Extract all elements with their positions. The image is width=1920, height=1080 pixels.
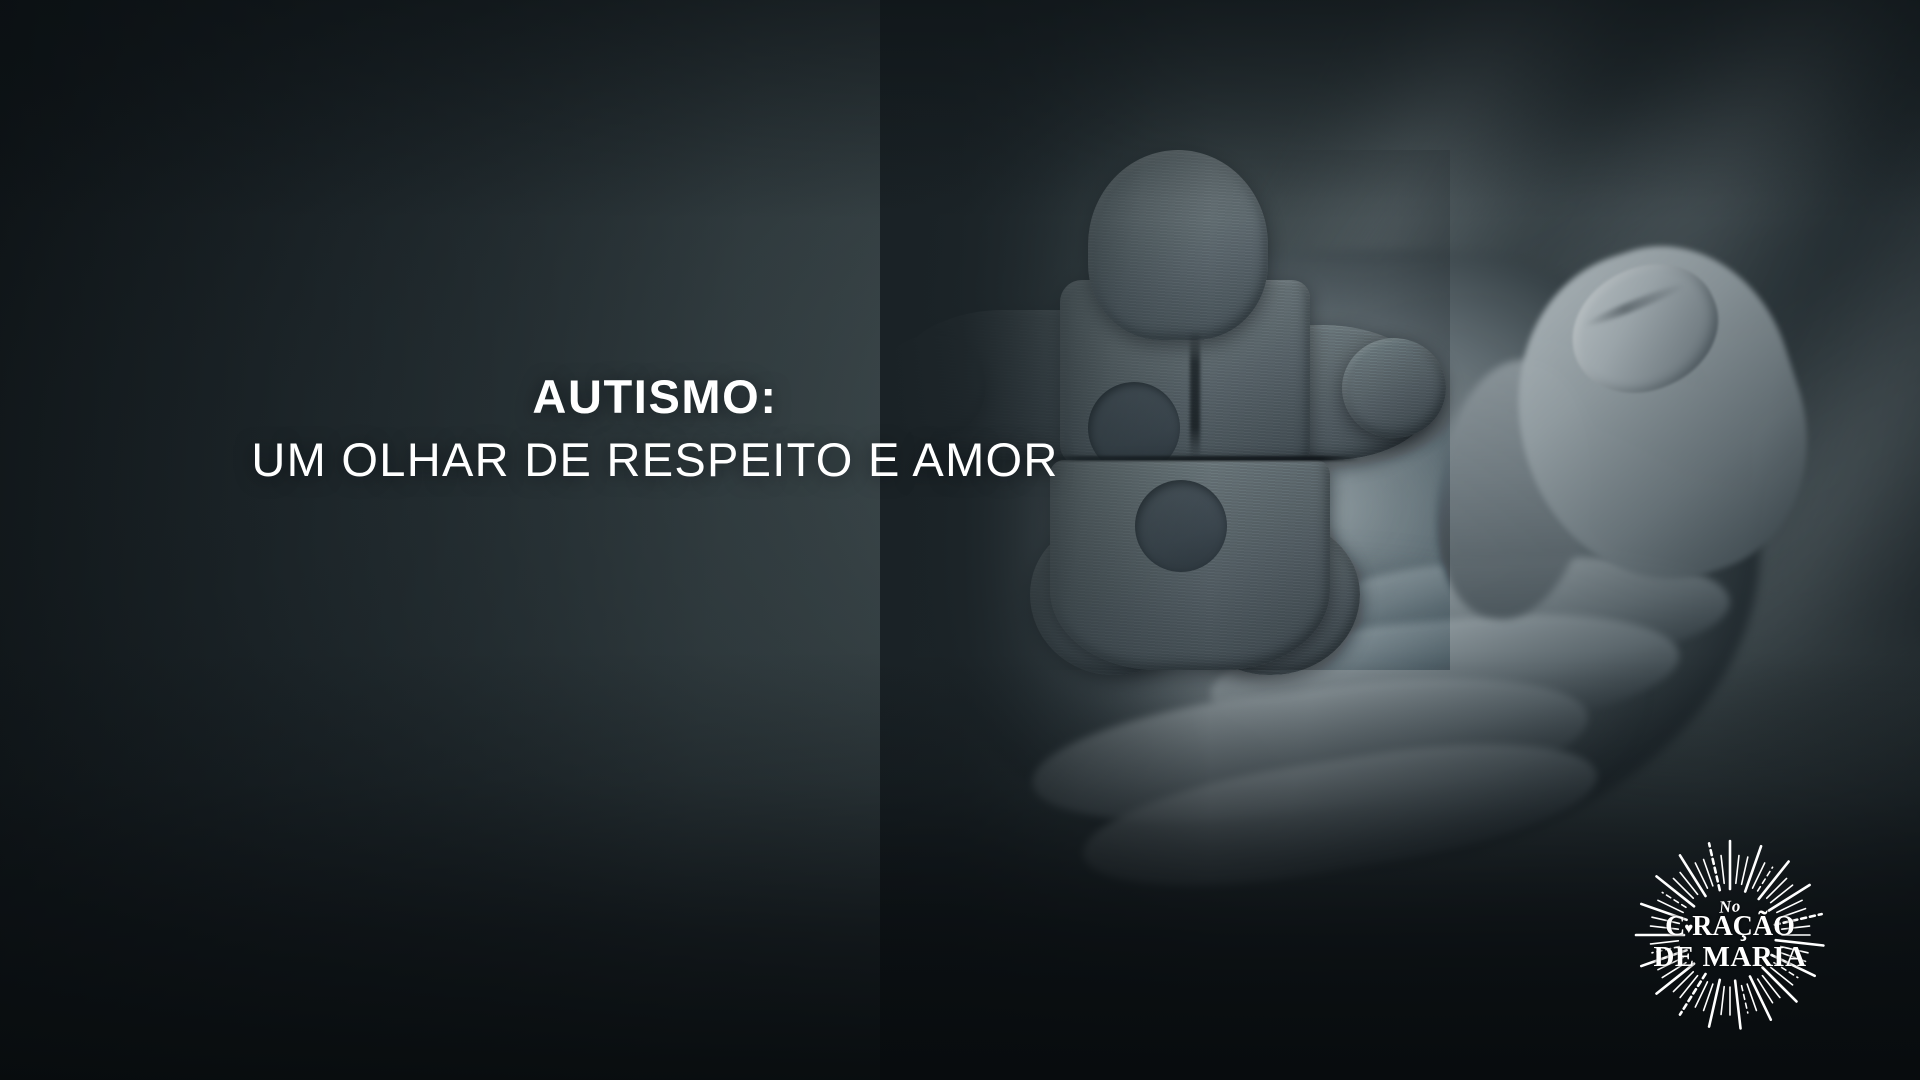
autism-awareness-banner: AUTISMO: UM OLHAR DE RESPEITO E AMOR No …: [0, 0, 1920, 1080]
logo-no-coracao-de-maria[interactable]: No C♥RAÇÃO DE MARIA: [1630, 835, 1830, 1035]
headline-block: AUTISMO: UM OLHAR DE RESPEITO E AMOR: [55, 370, 1255, 487]
headline-line-1: AUTISMO:: [55, 370, 1255, 425]
puzzle-notch-lower: [1135, 480, 1227, 572]
sunburst-rays-icon: [1630, 835, 1830, 1035]
top-darken-overlay: [0, 0, 1920, 220]
puzzle-knob-right: [1342, 338, 1446, 438]
headline-line-2: UM OLHAR DE RESPEITO E AMOR: [55, 433, 1255, 488]
